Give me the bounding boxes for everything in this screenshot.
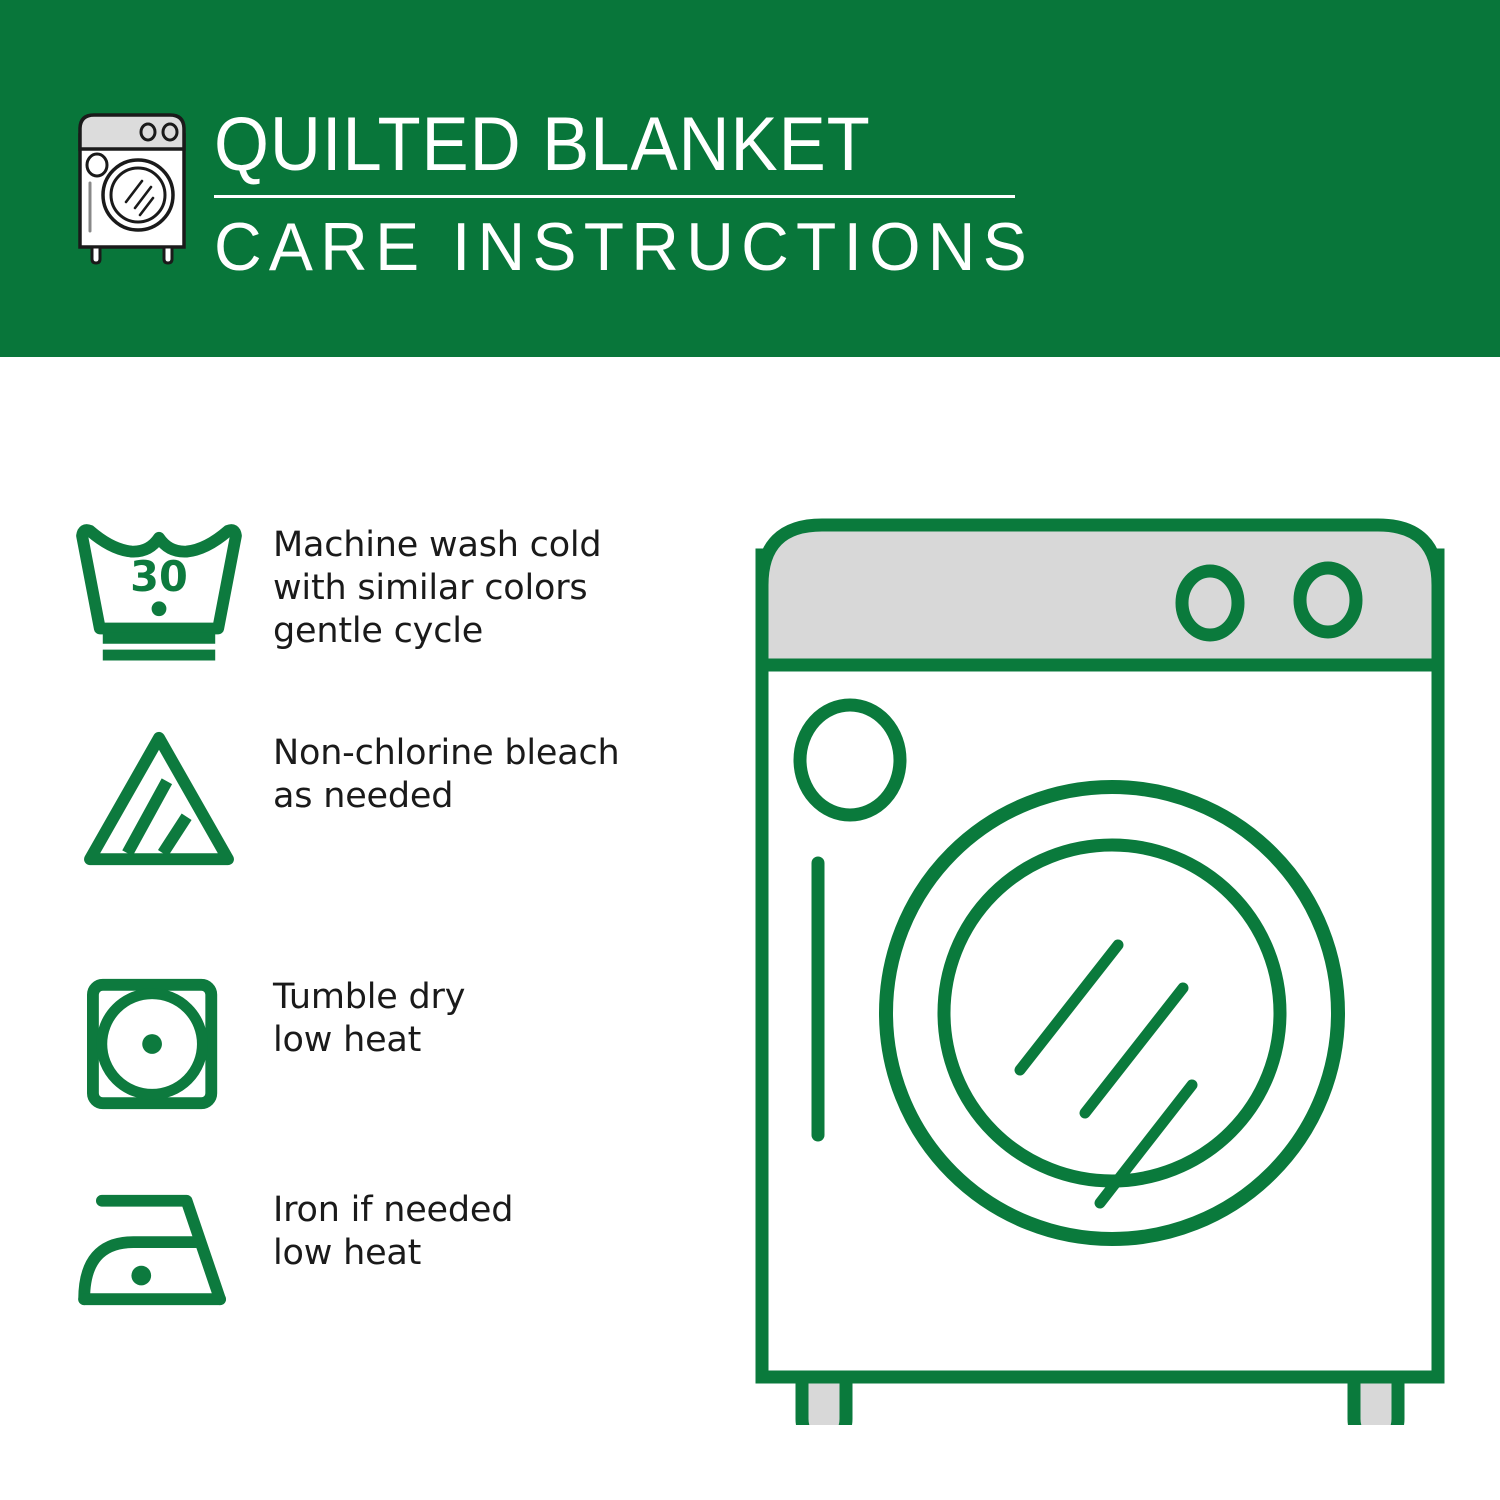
wash-temperature-value: 30 bbox=[130, 553, 188, 601]
care-text-machine-wash: Machine wash cold with similar colors ge… bbox=[255, 520, 601, 653]
care-row-iron: Iron if needed low heat bbox=[70, 1185, 710, 1313]
knob-right bbox=[1300, 568, 1356, 632]
title-divider bbox=[214, 195, 1015, 198]
foot-left bbox=[802, 1377, 846, 1425]
washing-machine-icon bbox=[66, 105, 198, 265]
care-row-bleach: Non-chlorine bleach as needed bbox=[70, 728, 710, 871]
foot-right bbox=[1354, 1377, 1398, 1425]
triangle-bleach-icon bbox=[70, 728, 255, 871]
front-load-washing-machine-illustration bbox=[740, 495, 1460, 1425]
page-subtitle: CARE INSTRUCTIONS bbox=[214, 210, 995, 284]
wash-tub-30-icon: 30 bbox=[70, 520, 255, 663]
care-instructions-page: QUILTED BLANKET CARE INSTRUCTIONS 30 Mac… bbox=[0, 0, 1500, 1500]
page-title: QUILTED BLANKET bbox=[214, 104, 963, 186]
care-text-tumble-dry: Tumble dry low heat bbox=[255, 972, 465, 1062]
header-banner: QUILTED BLANKET CARE INSTRUCTIONS bbox=[0, 0, 1500, 357]
care-row-tumble-dry: Tumble dry low heat bbox=[70, 972, 710, 1115]
iron-one-dot-icon bbox=[70, 1185, 255, 1313]
care-text-iron: Iron if needed low heat bbox=[255, 1185, 513, 1275]
tumble-dry-one-dot-icon bbox=[70, 972, 255, 1115]
care-row-machine-wash: 30 Machine wash cold with similar colors… bbox=[70, 520, 710, 663]
knob-left bbox=[1182, 571, 1238, 635]
header-title-block: QUILTED BLANKET CARE INSTRUCTIONS bbox=[214, 104, 1019, 284]
care-text-bleach: Non-chlorine bleach as needed bbox=[255, 728, 619, 818]
